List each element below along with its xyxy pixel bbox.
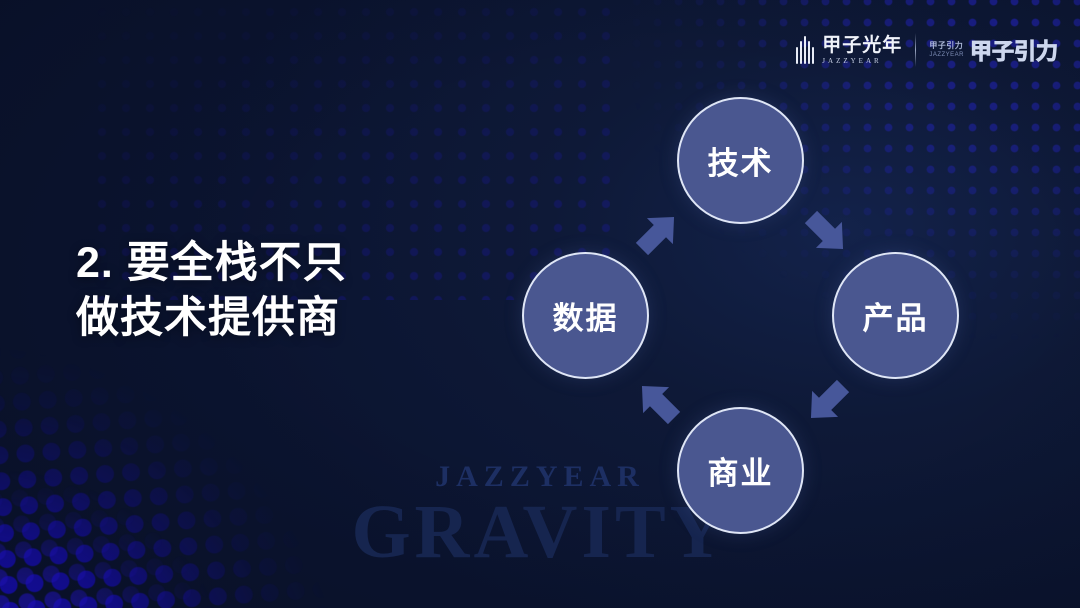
logo-divider [915,33,916,67]
logo-jazzyear-en: JAZZYEAR [822,58,902,65]
page-title: 2. 要全栈不只 做技术提供商 [76,236,347,346]
cycle-diagram: 技术 产品 商业 数据 [500,75,990,565]
arrow-product-to-business-icon [800,375,854,429]
node-tech-label: 技术 [708,138,774,183]
logo-bar: 甲子光年 JAZZYEAR 甲子引力 JAZZYEAR 甲子引力 [796,30,1058,70]
node-tech[interactable]: 技术 [677,97,804,224]
logo-gravity: 甲子引力 JAZZYEAR 甲子引力 [929,34,1058,66]
node-data[interactable]: 数据 [522,252,649,379]
logo-jazzyear: 甲子光年 JAZZYEAR [796,36,902,65]
logo-jazzyear-cn: 甲子光年 [822,36,902,55]
slide-canvas: JAZZYEAR GRAVITY 甲子光年 JAZZYEAR 甲子引力 JAZZ… [0,0,1080,608]
logo-gravity-cn: 甲子引力 [970,34,1058,66]
logo-gravity-mark: 甲子引力 JAZZYEAR [929,42,964,58]
arrow-tech-to-product-icon [800,206,854,260]
node-business[interactable]: 商业 [677,407,804,534]
logo-gravity-mark-en: JAZZYEAR [929,52,964,58]
arrow-data-to-tech-icon [631,206,685,260]
logo-jazzyear-text: 甲子光年 JAZZYEAR [822,36,902,65]
node-business-label: 商业 [708,448,774,493]
logo-gravity-mark-cn: 甲子引力 [929,42,964,50]
logo-bars-icon [796,36,814,64]
node-data-label: 数据 [553,293,619,338]
node-product[interactable]: 产品 [832,252,959,379]
node-product-label: 产品 [863,293,929,338]
arrow-business-to-data-icon [631,375,685,429]
